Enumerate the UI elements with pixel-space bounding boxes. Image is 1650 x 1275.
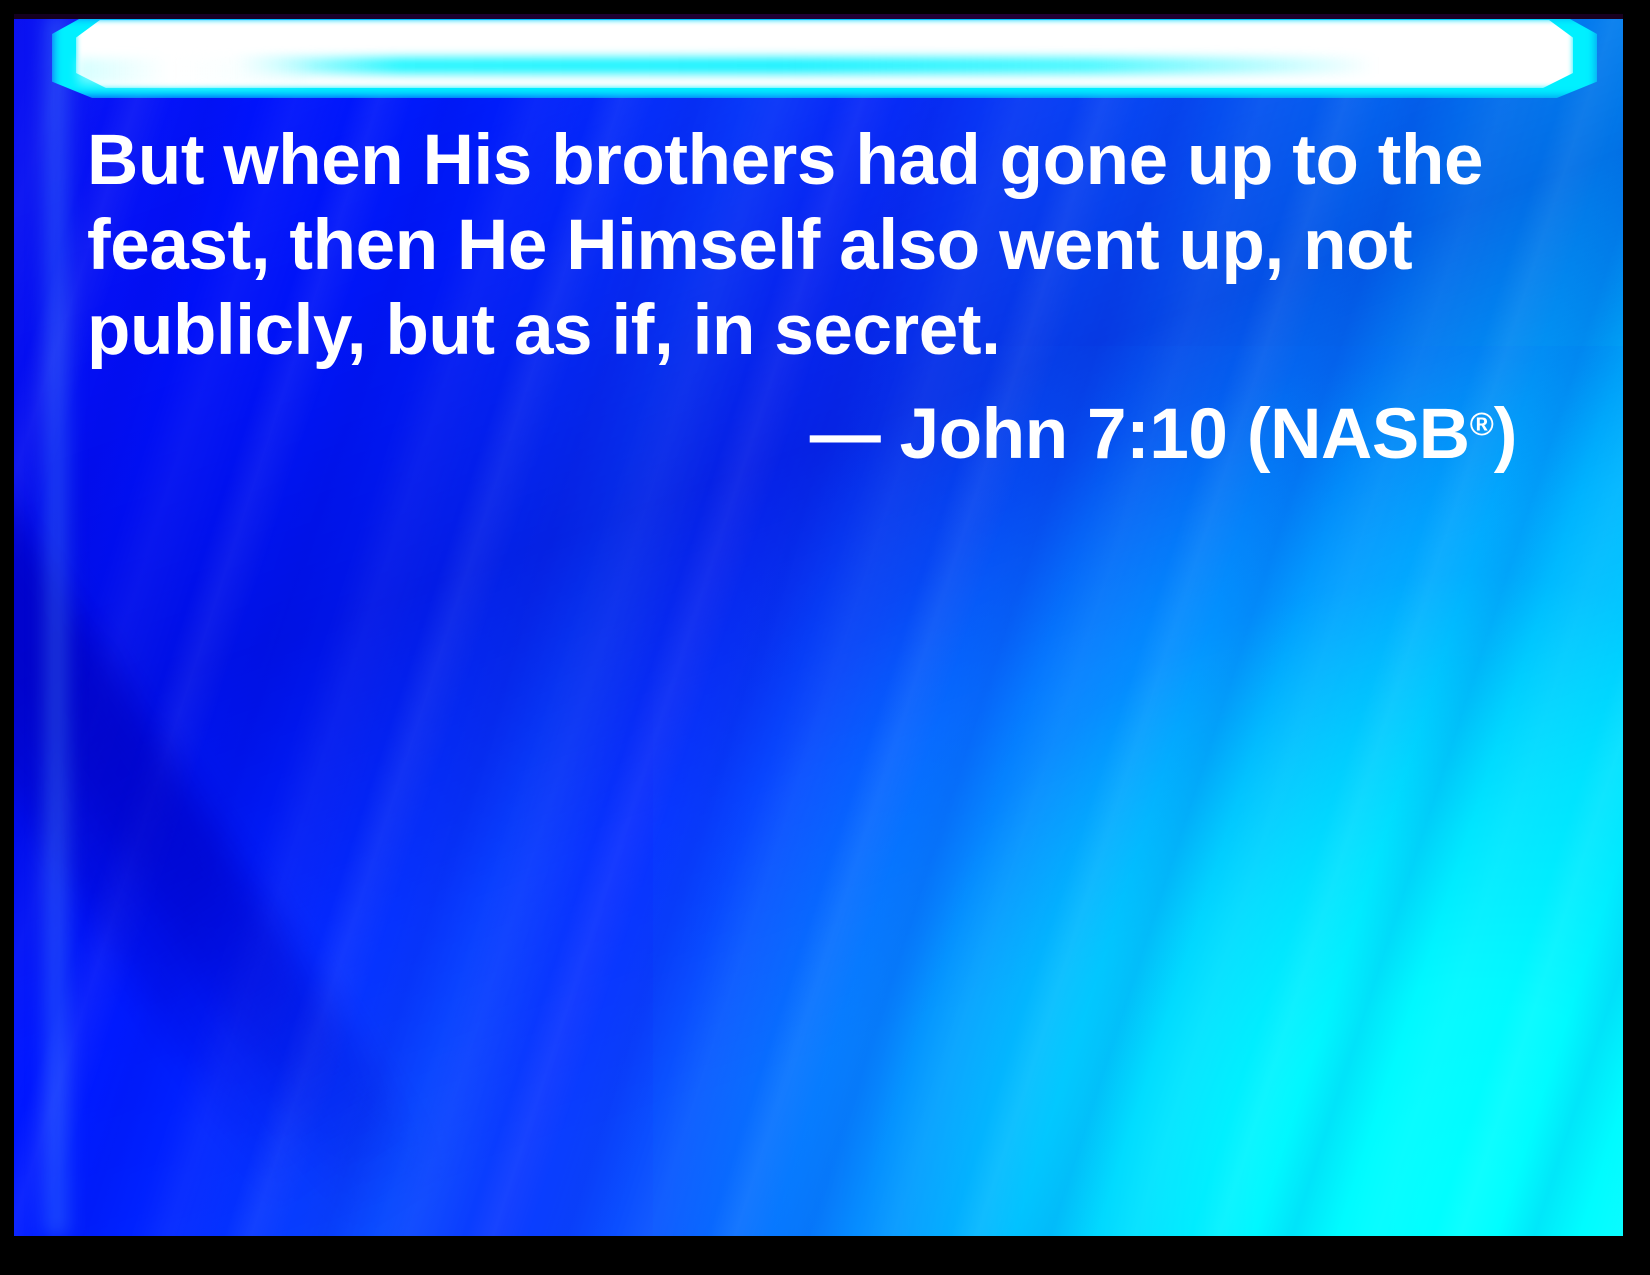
verse-slide: But when His brothers had gone up to the… bbox=[14, 14, 1623, 1236]
glow-bar-cyan-smear bbox=[234, 57, 1423, 74]
attribution-close-paren: ) bbox=[1494, 395, 1517, 474]
background-left-edge-streak bbox=[40, 14, 74, 1236]
top-glow-bar bbox=[14, 14, 1623, 104]
attribution-reference: 7:10 bbox=[1087, 395, 1228, 474]
verse-line-3: publicly, but as if, in secret. bbox=[87, 288, 1517, 373]
verse-attribution: — John 7:10 (NASB®) bbox=[87, 381, 1517, 477]
attribution-translation: NASB bbox=[1270, 395, 1470, 474]
verse-line-1: But when His brothers had gone up to the bbox=[87, 118, 1517, 203]
attribution-open-paren: ( bbox=[1247, 395, 1270, 474]
glow-bar-cyan-smear-left bbox=[78, 58, 308, 84]
verse-text-block: But when His brothers had gone up to the… bbox=[87, 118, 1517, 477]
registered-trademark-icon: ® bbox=[1470, 405, 1494, 442]
attribution-em-dash: — bbox=[810, 395, 881, 474]
slide-screen: But when His brothers had gone up to the… bbox=[0, 0, 1650, 1275]
attribution-book: John bbox=[900, 395, 1068, 474]
top-hairline bbox=[14, 14, 1623, 19]
verse-line-2: feast, then He Himself also went up, not bbox=[87, 203, 1517, 288]
attribution-spacer-2 bbox=[1068, 395, 1087, 474]
attribution-spacer-3 bbox=[1228, 395, 1247, 474]
attribution-spacer-1 bbox=[880, 395, 899, 474]
